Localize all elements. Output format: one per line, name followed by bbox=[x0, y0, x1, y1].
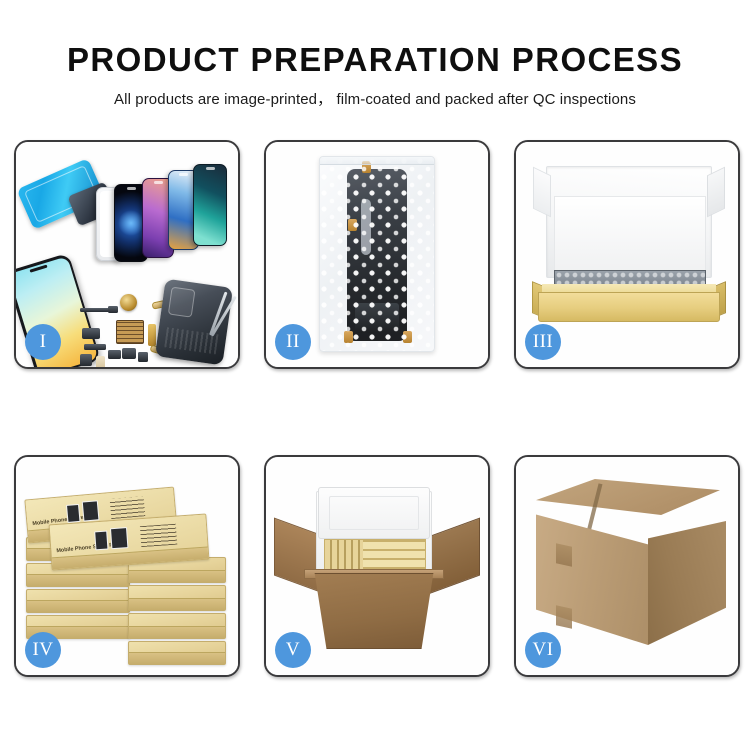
carton-left-face bbox=[536, 509, 648, 645]
process-step-panel-2: II bbox=[264, 140, 490, 369]
product-preparation-infographic: PRODUCT PREPARATION PROCESS All products… bbox=[0, 0, 750, 750]
step-badge-3: III bbox=[525, 324, 561, 360]
step-badge-1: I bbox=[25, 324, 61, 360]
process-step-panel-5: V bbox=[264, 455, 490, 677]
process-step-panel-6: VI bbox=[514, 455, 740, 677]
bubble-wrap-bag bbox=[319, 156, 435, 352]
step-badge-2: II bbox=[275, 324, 311, 360]
process-step-panel-4: Mobile Phone Spare Parts Mobile Phone Sp… bbox=[14, 455, 240, 677]
step-badge-6: VI bbox=[525, 632, 561, 668]
carton-tape-upper bbox=[556, 543, 572, 566]
foam-box-lid bbox=[318, 487, 430, 539]
phone-screen-fan bbox=[88, 164, 238, 284]
speaker-mesh-part bbox=[120, 294, 137, 311]
page-subtitle: All products are image-printed， film-coa… bbox=[0, 88, 750, 109]
bag-seal-edge bbox=[320, 157, 434, 165]
bubble-texture-overlay bbox=[320, 157, 434, 351]
header: PRODUCT PREPARATION PROCESS All products… bbox=[0, 40, 750, 109]
process-step-panel-3: III bbox=[514, 140, 740, 369]
logic-board-chip bbox=[116, 320, 144, 344]
carton-flap-right bbox=[428, 518, 480, 595]
step-badge-5: V bbox=[275, 632, 311, 668]
carton-tape-lower bbox=[556, 605, 572, 628]
carton-right-face bbox=[648, 521, 726, 645]
white-foam-insert bbox=[554, 196, 706, 274]
process-step-grid: I II bbox=[14, 140, 737, 677]
page-title: PRODUCT PREPARATION PROCESS bbox=[0, 40, 750, 80]
box-front-wall-yellow bbox=[538, 292, 720, 322]
step-badge-4: IV bbox=[25, 632, 61, 668]
process-step-panel-1: I bbox=[14, 140, 240, 369]
carton-front-wall bbox=[308, 573, 440, 649]
screen-teal-wallpaper bbox=[193, 164, 227, 246]
